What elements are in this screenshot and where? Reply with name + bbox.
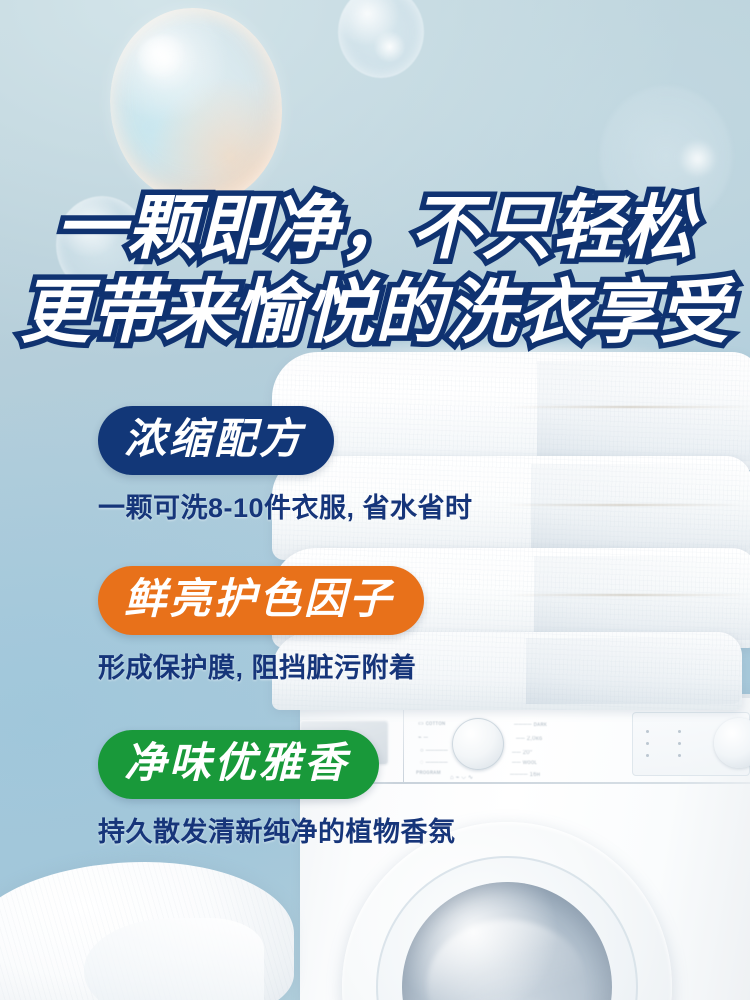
feature-block-concentrated-formula: 浓缩配方 一颗可洗8-10件衣服, 省水省时 (98, 406, 473, 524)
feature-block-fragrance: 净味优雅香 持久散发清新纯净的植物香氛 (98, 730, 456, 848)
towel-fold (531, 464, 750, 551)
washer-door-glass (402, 882, 612, 1000)
drum-highlight (427, 920, 587, 1000)
towel-fold (534, 556, 750, 640)
dial-label-icon: ──── 16ʜ (510, 772, 540, 778)
dial-label-icon: ── 20° (512, 750, 532, 756)
led-dot-icon (646, 754, 649, 757)
headline-line-1: 一颗即净，不只轻松 (0, 186, 750, 270)
towel-edge (502, 504, 742, 506)
led-dot-icon (678, 742, 681, 745)
feature-badge-2: 鲜亮护色因子 (98, 566, 424, 635)
feature-badge-3: 净味优雅香 (98, 730, 379, 799)
headline: 一颗即净，不只轻松 更带来愉悦的洗衣享受 (0, 186, 750, 354)
feature-block-color-protection: 鲜亮护色因子 形成保护膜, 阻挡脏污附着 (98, 566, 424, 684)
feature-subtitle-1: 一颗可洗8-10件衣服, 省水省时 (98, 492, 473, 524)
program-dial-knob (452, 718, 504, 770)
washer-door-ring (376, 856, 638, 1000)
crumpled-towel (0, 862, 294, 1000)
dial-label-icon: ── ᴡᴏᴏʟ (512, 760, 537, 766)
headline-line-2: 更带来愉悦的洗衣享受 (0, 270, 750, 354)
dial-label-icon: ▭ ᴄᴏᴛᴛᴏɴ (418, 720, 445, 727)
dial-label-icon: ── 2,0ᴋɢ (516, 736, 542, 742)
towel-edge (505, 594, 748, 596)
led-dot-icon (646, 730, 649, 733)
led-dot-icon (646, 742, 649, 745)
towel-fold (526, 638, 742, 704)
towel-fold (537, 361, 750, 460)
washer-door (342, 822, 672, 1000)
led-dot-icon (678, 730, 681, 733)
dial-label-icon: ──── ᴅᴀʀᴋ (514, 722, 547, 728)
product-poster: ▭ ᴄᴏᴛᴛᴏɴ ⌁ ─ ○ ───── ◌ ───── ᴘʀᴏɢʀᴀᴍ ◔ ᴏ… (0, 0, 750, 1000)
feature-subtitle-3: 持久散发清新纯净的植物香氛 (98, 816, 456, 848)
feature-badge-1: 浓缩配方 (98, 406, 334, 475)
feature-subtitle-2: 形成保护膜, 阻挡脏污附着 (98, 652, 424, 684)
towel-edge (507, 406, 750, 408)
led-dot-icon (678, 754, 681, 757)
